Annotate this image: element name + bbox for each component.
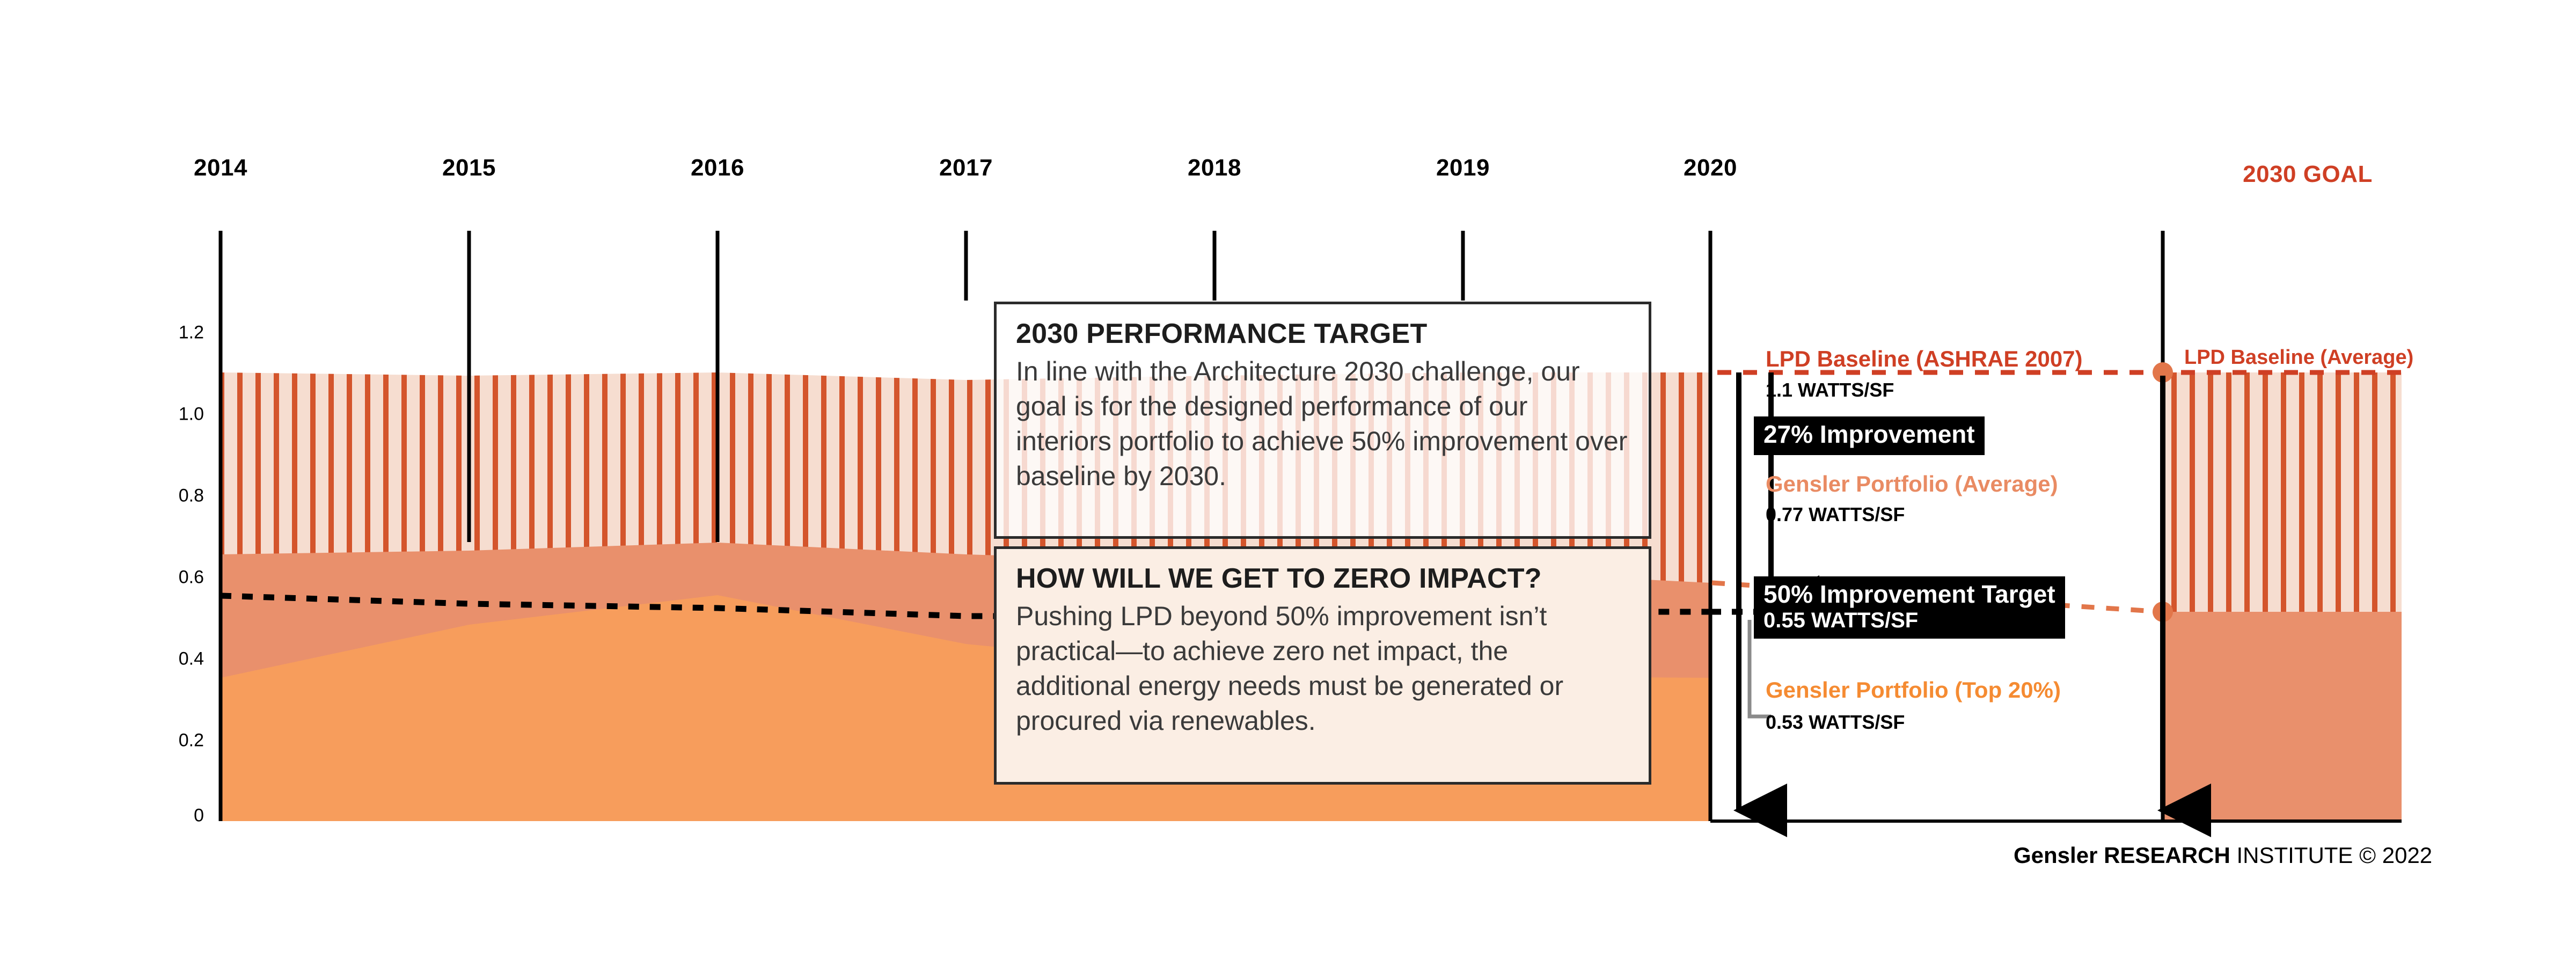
y-tick-0-2: 0.2 [179, 730, 204, 751]
x-label-2030-goal: 2030 GOAL [2243, 161, 2373, 188]
y-tick-0-6: 0.6 [179, 567, 204, 588]
footer-rest: INSTITUTE © 2022 [2230, 843, 2432, 868]
annotation-lpd-baseline-value: 1.1 WATTS/SF [1766, 379, 1894, 401]
callout-zero-body: Pushing LPD beyond 50% improvement isn’t… [1016, 599, 1630, 738]
goal-baseline-striped [2163, 372, 2402, 612]
infographic-root: 2014 2015 2016 2017 2018 2019 2020 2030 … [0, 0, 2576, 966]
y-tick-1-0: 1.0 [179, 404, 204, 425]
callout-target-body: In line with the Architecture 2030 chall… [1016, 354, 1630, 494]
y-tick-0: 0 [194, 806, 204, 826]
x-label-2019: 2019 [1436, 155, 1490, 181]
y-tick-0-4: 0.4 [179, 649, 204, 670]
chip-50-line2: 0.55 WATTS/SF [1763, 609, 2055, 633]
callout-zero-impact: HOW WILL WE GET TO ZERO IMPACT? Pushing … [994, 546, 1651, 785]
x-label-2020: 2020 [1684, 155, 1737, 181]
annotation-portfolio-average-value: 0.77 WATTS/SF [1766, 503, 1905, 526]
annotation-right-baseline-average: LPD Baseline (Average) [2184, 346, 2413, 369]
y-tick-1-2: 1.2 [179, 323, 204, 343]
chip-27-text: 27% Improvement [1763, 421, 1975, 449]
annotation-portfolio-top20-value: 0.53 WATTS/SF [1766, 711, 1905, 734]
right-panel-goal [2163, 372, 2402, 821]
chip-50-line1: 50% Improvement Target [1763, 581, 2055, 609]
callout-zero-heading: HOW WILL WE GET TO ZERO IMPACT? [1016, 564, 1630, 594]
chip-50-improvement-target: 50% Improvement Target 0.55 WATTS/SF [1754, 576, 2065, 639]
goal-target-solid [2163, 612, 2402, 821]
annotation-lpd-baseline-label: LPD Baseline (ASHRAE 2007) [1766, 346, 2083, 372]
footer-credit: Gensler RESEARCH INSTITUTE © 2022 [2014, 843, 2432, 868]
chip-27-improvement: 27% Improvement [1754, 416, 1985, 455]
annotation-portfolio-top20-label: Gensler Portfolio (Top 20%) [1766, 677, 2061, 703]
annotation-portfolio-average-label: Gensler Portfolio (Average) [1766, 471, 2058, 497]
x-label-2015: 2015 [442, 155, 496, 181]
x-label-2017: 2017 [939, 155, 993, 181]
callout-2030-performance-target: 2030 PERFORMANCE TARGET In line with the… [994, 302, 1651, 539]
x-label-2014: 2014 [194, 155, 247, 181]
y-tick-0-8: 0.8 [179, 486, 204, 507]
x-label-2016: 2016 [691, 155, 744, 181]
x-label-2018: 2018 [1188, 155, 1241, 181]
footer-brand: Gensler RESEARCH [2014, 843, 2230, 868]
callout-target-heading: 2030 PERFORMANCE TARGET [1016, 319, 1630, 349]
